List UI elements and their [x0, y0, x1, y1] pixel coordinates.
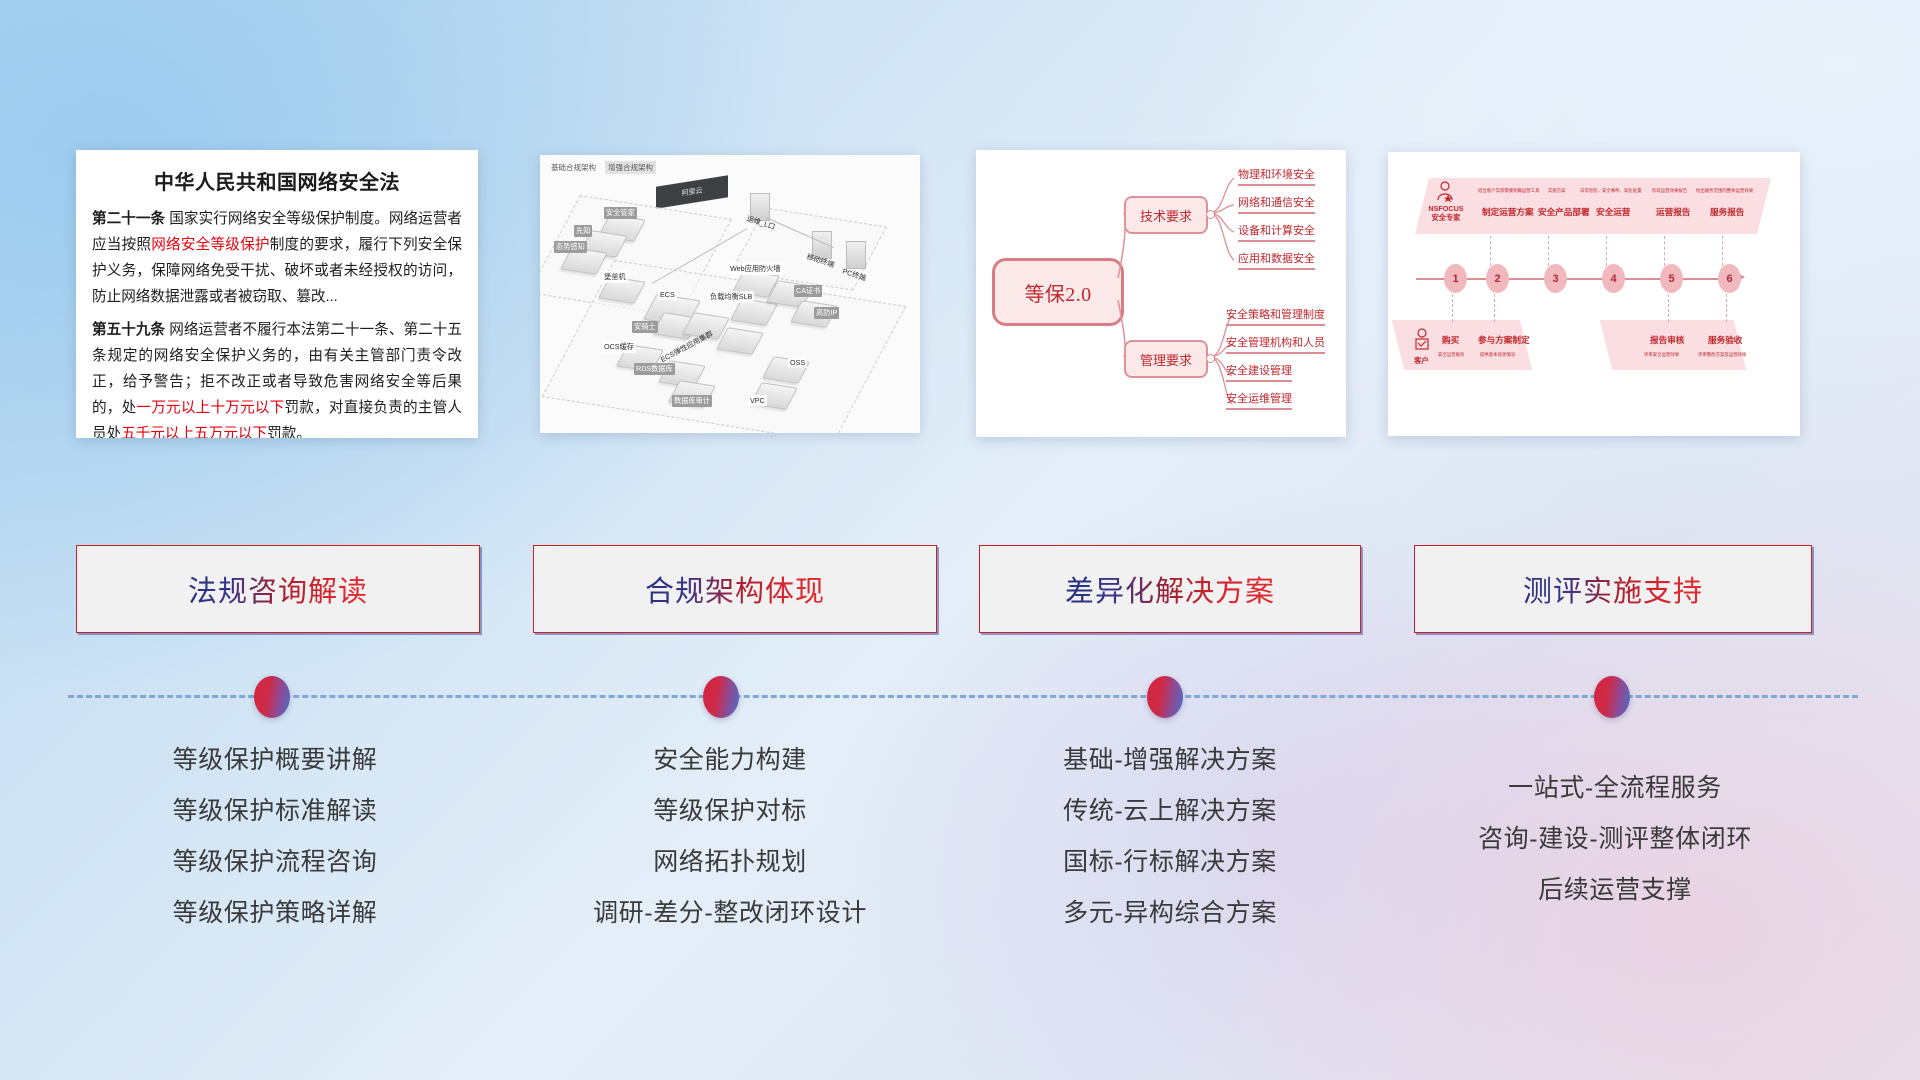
law-card-body: 第二十一条 国家实行网络安全等级保护制度。网络运营者应当按照网络安全等级保护制度… — [76, 206, 478, 438]
timeline-dashed-line — [68, 695, 1858, 698]
customer-person-icon — [1412, 328, 1432, 354]
top-head-4: 运营报告 — [1656, 206, 1690, 218]
dash-b5 — [1668, 294, 1670, 322]
mindmap-leaf-physical-env: 物理和环境安全 — [1238, 166, 1315, 186]
top-sub-1: 结合客户实际需要明确运营工具 — [1478, 188, 1539, 194]
cloud-provider-chip: 阿里云 — [656, 175, 728, 208]
label-db-audit: 数据库审计 — [672, 395, 712, 407]
cloud-architecture-card[interactable]: 基础合规架构 增强合规架构 阿里云 — [540, 155, 920, 433]
top-head-2: 安全产品部署 — [1538, 206, 1590, 218]
step-node-4: 4 — [1602, 264, 1625, 293]
heading-box-differentiated-solution[interactable]: 差异化解决方案 — [979, 545, 1361, 633]
detail-list-row: 等级保护概要讲解 等级保护标准解读 等级保护流程咨询 等级保护策略详解 安全能力… — [0, 735, 1920, 985]
step-node-3: 3 — [1544, 264, 1567, 293]
top-sub-4: 阶段运营效果报告 — [1652, 188, 1687, 194]
article-21-number: 第二十一条 — [92, 211, 165, 227]
mindmap-leaf-construction-mgmt: 安全建设管理 — [1226, 362, 1292, 382]
label-rds: RDS数据库 — [634, 363, 675, 375]
mindmap-leaf-network-comm: 网络和通信安全 — [1238, 194, 1315, 214]
label-anqishi: 安骑士 — [632, 321, 658, 333]
label-security-butler: 安全管家 — [604, 207, 637, 219]
list-item: 一站式-全流程服务 — [1400, 763, 1830, 814]
label-vpc: VPC — [748, 395, 767, 406]
thumbnail-card-row: 中华人民共和国网络安全法 第二十一条 国家实行网络安全等级保护制度。网络运营者应… — [0, 0, 1920, 440]
list-item: 传统-云上解决方案 — [960, 786, 1380, 837]
list-item: 等级保护标准解读 — [70, 786, 480, 837]
architecture-tabs[interactable]: 基础合规架构 增强合规架构 — [548, 161, 656, 174]
expert-label: NSFOCUS安全专家 — [1426, 204, 1466, 222]
label-anti-ddos-ip: 高防IP — [814, 307, 839, 319]
dash-b2 — [1494, 294, 1496, 322]
dengbao-mindmap: 等保2.0 技术要求 管理要求 物理和环境安全 — [976, 150, 1346, 437]
bottom-head-1: 购买 — [1442, 334, 1459, 346]
bottom-head-4: 服务验收 — [1708, 334, 1742, 346]
heading-label-4: 测评实施支持 — [1523, 568, 1703, 610]
dash-6 — [1722, 236, 1724, 266]
expert-person-icon — [1434, 180, 1456, 202]
mindmap-leaf-ops-mgmt: 安全运维管理 — [1226, 390, 1292, 410]
top-head-3: 安全运营 — [1596, 206, 1630, 218]
label-ecs: ECS — [658, 289, 677, 300]
list-item: 网络拓扑规划 — [520, 837, 940, 888]
top-sub-3: 日常巡检、安全事件、高危处置 — [1580, 188, 1641, 194]
mindmap-branch-technical: 技术要求 — [1124, 196, 1208, 234]
detail-list-column-2: 安全能力构建 等级保护对标 网络拓扑规划 调研-差分-整改闭环设计 — [520, 735, 940, 939]
list-item: 等级保护对标 — [520, 786, 940, 837]
mindmap-collapse-dot-technical[interactable] — [1206, 210, 1215, 219]
article-59-penalty-1: 一万元以上十万元以下 — [136, 400, 284, 416]
nsfocus-service-flow: NSFOCUS安全专家 结合客户实际需要明确运营工具 制定运营方案 实施方案 安… — [1388, 152, 1800, 436]
top-head-1: 制定运营方案 — [1482, 206, 1534, 218]
mindmap-leaf-org-people: 安全管理机构和人员 — [1226, 334, 1325, 354]
mindmap-root-node: 等保2.0 — [992, 258, 1124, 326]
list-item: 基础-增强解决方案 — [960, 735, 1380, 786]
article-21-highlight: 网络安全等级保护 — [151, 237, 269, 253]
dash-5 — [1664, 236, 1666, 266]
dash-b6 — [1726, 294, 1728, 322]
step-node-5: 5 — [1660, 264, 1683, 293]
bottom-sub-2: 提供基本现状情况 — [1480, 352, 1515, 358]
top-sub-5: 给出服务范围内整体运营效果 — [1696, 188, 1753, 194]
article-59-number: 第五十九条 — [92, 322, 165, 338]
detail-list-column-4: 一站式-全流程服务 咨询-建设-测评整体闭环 后续运营支撑 — [1400, 763, 1830, 916]
dash-4 — [1606, 236, 1608, 266]
timeline-dot-2[interactable] — [703, 676, 739, 718]
nsfocus-timeline-card[interactable]: NSFOCUS安全专家 结合客户实际需要明确运营工具 制定运营方案 实施方案 安… — [1388, 152, 1800, 436]
label-waf: Web应用防火墙 — [728, 263, 783, 275]
cybersecurity-law-card[interactable]: 中华人民共和国网络安全法 第二十一条 国家实行网络安全等级保护制度。网络运营者应… — [76, 150, 478, 438]
label-xianzhi: 先知 — [574, 225, 592, 237]
list-item: 等级保护策略详解 — [70, 888, 480, 939]
bottom-head-3: 报告审核 — [1650, 334, 1684, 346]
customer-label: 客户 — [1414, 355, 1429, 366]
timeline-dot-4[interactable] — [1594, 676, 1630, 718]
list-item: 等级保护概要讲解 — [70, 735, 480, 786]
architecture-diagram: 基础合规架构 增强合规架构 阿里云 — [540, 155, 920, 433]
heading-label-3: 差异化解决方案 — [1065, 568, 1275, 610]
mindmap-leaf-app-data: 应用和数据安全 — [1238, 250, 1315, 270]
article-59-penalty-2: 五千元以上五万元以下 — [121, 426, 267, 438]
label-slb: 负载均衡SLB — [708, 291, 754, 303]
label-ca-cert: CA证书 — [794, 285, 822, 297]
detail-list-column-1: 等级保护概要讲解 等级保护标准解读 等级保护流程咨询 等级保护策略详解 — [70, 735, 480, 939]
bottom-sub-4: 评审整改方案及运营效果 — [1698, 352, 1746, 358]
heading-box-regulation-consulting[interactable]: 法规咨询解读 — [76, 545, 480, 633]
node-pc-terminal — [846, 241, 866, 269]
timeline-track — [0, 655, 1920, 735]
list-item: 安全能力构建 — [520, 735, 940, 786]
heading-box-compliance-architecture[interactable]: 合规架构体现 — [533, 545, 937, 633]
dash-b1 — [1452, 294, 1454, 322]
bottom-sub-3: 评审安全运营效果 — [1644, 352, 1679, 358]
heading-label-2: 合规架构体现 — [645, 568, 825, 610]
list-item: 多元-异构综合方案 — [960, 888, 1380, 939]
list-item: 后续运营支撑 — [1400, 865, 1830, 916]
tab-basic-compliance[interactable]: 基础合规架构 — [548, 161, 599, 174]
timeline-dot-1[interactable] — [254, 676, 290, 718]
label-ocs-cache: OCS缓存 — [602, 341, 636, 353]
dash-3 — [1548, 236, 1550, 266]
list-item: 调研-差分-整改闭环设计 — [520, 888, 940, 939]
bottom-head-2: 参与方案制定 — [1478, 334, 1530, 346]
step-node-1: 1 — [1444, 264, 1467, 293]
mindmap-leaf-policy-system: 安全策略和管理制度 — [1226, 306, 1325, 326]
heading-box-evaluation-support[interactable]: 测评实施支持 — [1414, 545, 1812, 633]
list-item: 咨询-建设-测评整体闭环 — [1400, 814, 1830, 865]
law-card-title: 中华人民共和国网络安全法 — [76, 166, 478, 195]
bottom-sub-1: 安全运营服务 — [1438, 352, 1464, 358]
top-head-5: 服务报告 — [1710, 206, 1744, 218]
detail-list-column-3: 基础-增强解决方案 传统-云上解决方案 国标-行标解决方案 多元-异构综合方案 — [960, 735, 1380, 939]
mindmap-leaf-device-compute: 设备和计算安全 — [1238, 222, 1315, 242]
top-sub-2: 实施方案 — [1548, 188, 1566, 194]
tab-enhanced-compliance[interactable]: 增强合规架构 — [605, 161, 656, 174]
label-situation-awareness: 态势感知 — [554, 241, 587, 253]
heading-row: 法规咨询解读 合规架构体现 差异化解决方案 测评实施支持 — [0, 545, 1920, 637]
mindmap-card[interactable]: 等保2.0 技术要求 管理要求 物理和环境安全 — [976, 150, 1346, 437]
timeline-dot-3[interactable] — [1147, 676, 1183, 718]
slide-canvas: 中华人民共和国网络安全法 第二十一条 国家实行网络安全等级保护制度。网络运营者应… — [0, 0, 1920, 1080]
law-article-21: 第二十一条 国家实行网络安全等级保护制度。网络运营者应当按照网络安全等级保护制度… — [92, 206, 462, 310]
dash-2 — [1490, 236, 1492, 266]
article-59-tail: 罚款。 — [267, 426, 311, 438]
mindmap-collapse-dot-management[interactable] — [1206, 354, 1215, 363]
mindmap-branch-management: 管理要求 — [1124, 340, 1208, 378]
step-node-2: 2 — [1486, 264, 1509, 293]
heading-label-1: 法规咨询解读 — [188, 568, 368, 610]
law-article-59: 第五十九条 网络运营者不履行本法第二十一条、第二十五条规定的网络安全保护义务的，… — [92, 317, 462, 438]
label-bastion-host: 堡垒机 — [602, 271, 628, 283]
list-item: 等级保护流程咨询 — [70, 837, 480, 888]
label-oss: OSS — [788, 357, 807, 368]
step-node-6: 6 — [1718, 264, 1741, 293]
list-item: 国标-行标解决方案 — [960, 837, 1380, 888]
